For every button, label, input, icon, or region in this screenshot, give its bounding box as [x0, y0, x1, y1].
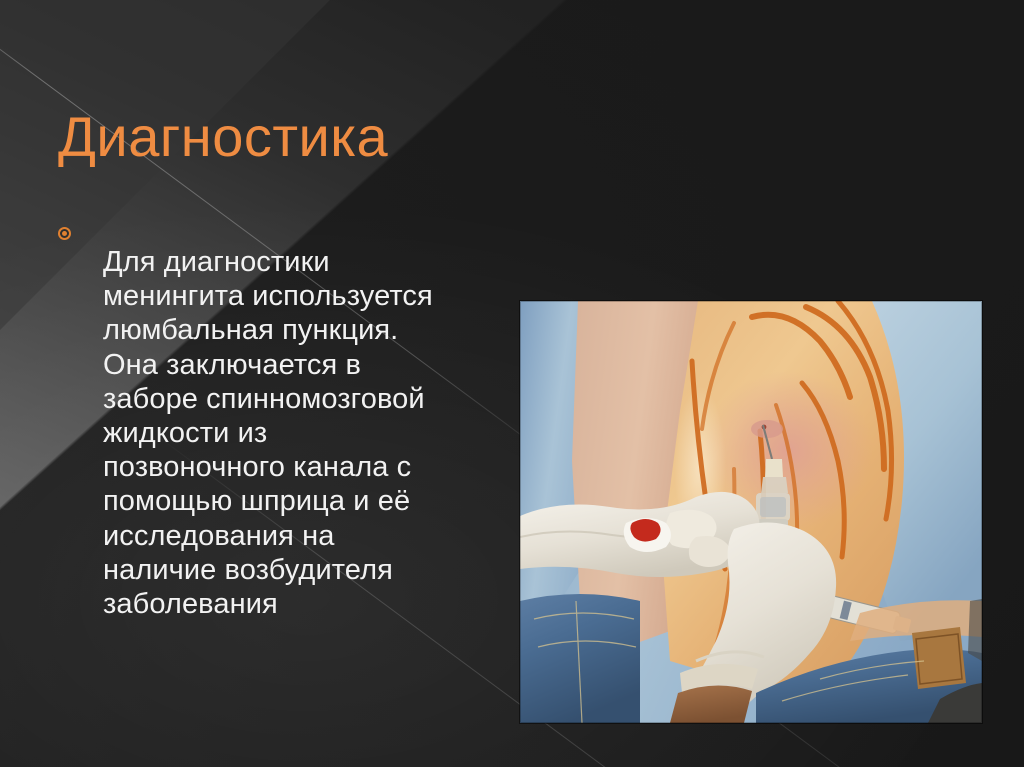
ring-bullet-icon: [58, 227, 71, 240]
slide-title: Диагностика: [58, 108, 388, 167]
bullet-list: Для диагностики менингита используется л…: [58, 216, 458, 650]
photo-illustration: [520, 301, 982, 723]
lumbar-puncture-photo: [520, 301, 982, 723]
bullet-item-text: Для диагностики менингита используется л…: [103, 245, 453, 621]
presentation-slide: Диагностика Для диагностики менингита ис…: [0, 0, 1024, 767]
